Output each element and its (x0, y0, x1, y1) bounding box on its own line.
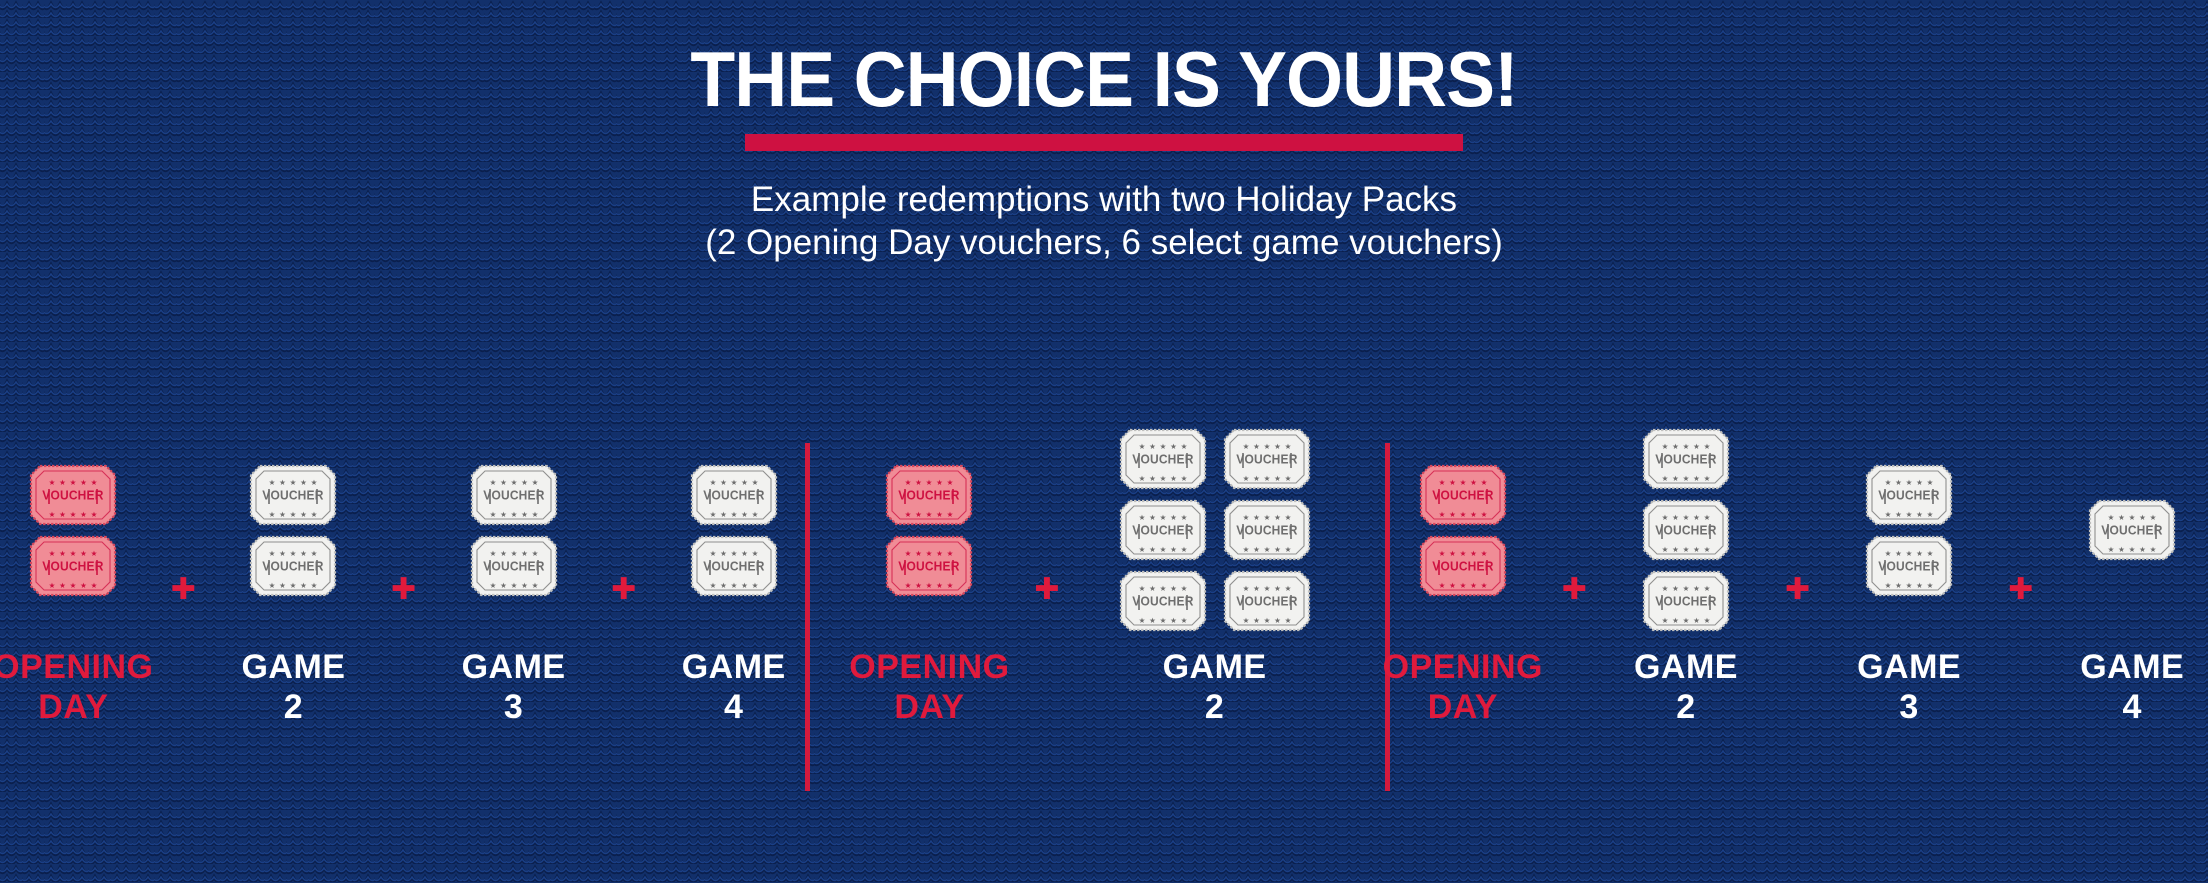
svg-text:★: ★ (1895, 549, 1902, 558)
svg-text:★: ★ (70, 581, 77, 590)
plus-separator-icon: ✚ (601, 575, 646, 605)
svg-text:★: ★ (1459, 581, 1466, 590)
svg-text:★: ★ (59, 478, 66, 487)
voucher-ticket-white: ★★★★★ ★★★★★ VOUCHER (470, 464, 558, 526)
svg-text:★: ★ (1449, 549, 1456, 558)
svg-text:★: ★ (1704, 545, 1711, 554)
svg-text:★: ★ (531, 581, 538, 590)
svg-text:VOUCHER: VOUCHER (1655, 452, 1716, 466)
svg-text:★: ★ (1459, 510, 1466, 519)
svg-text:★: ★ (1927, 581, 1934, 590)
svg-text:★: ★ (1895, 478, 1902, 487)
svg-text:VOUCHER: VOUCHER (1132, 594, 1193, 608)
ticket-row: ★★★★★ ★★★★★ VOUCHER (1865, 535, 1953, 597)
svg-text:★: ★ (1449, 478, 1456, 487)
svg-text:★: ★ (49, 510, 56, 519)
svg-text:★: ★ (489, 510, 496, 519)
svg-text:★: ★ (1693, 474, 1700, 483)
svg-text:★: ★ (1906, 581, 1913, 590)
svg-text:★: ★ (1138, 545, 1145, 554)
ticket-row: ★★★★★ ★★★★★ VOUCHER (885, 535, 973, 597)
svg-text:★: ★ (1704, 442, 1711, 451)
ticket-row: ★★★★★ ★★★★★ VOUCHER ★★★★★ ★★★★★ VOUCHER (1119, 499, 1311, 561)
svg-text:★: ★ (1683, 584, 1690, 593)
ticket-row: ★★★★★ ★★★★★ VOUCHER ★★★★★ ★★★★★ VOUCHER (1119, 570, 1311, 632)
svg-text:★: ★ (1253, 474, 1260, 483)
voucher-ticket-white: ★★★★★ ★★★★★ VOUCHER (249, 464, 337, 526)
svg-text:★: ★ (1159, 584, 1166, 593)
svg-text:★: ★ (500, 478, 507, 487)
svg-text:★: ★ (80, 549, 87, 558)
svg-text:★: ★ (1263, 474, 1270, 483)
voucher-ticket-white: ★★★★★ ★★★★★ VOUCHER (690, 535, 778, 597)
svg-text:VOUCHER: VOUCHER (263, 488, 324, 502)
svg-text:★: ★ (720, 581, 727, 590)
svg-text:★: ★ (1470, 478, 1477, 487)
label-line-2: DAY (849, 690, 1009, 724)
voucher-groups: ★★★★★ ★★★★★ VOUCHER ★★★★★ ★★★★★ VOUCHER … (1374, 420, 2208, 820)
svg-text:★: ★ (510, 510, 517, 519)
svg-text:VOUCHER: VOUCHER (1432, 559, 1493, 573)
voucher-group-label: GAME4 (2080, 650, 2184, 724)
svg-text:★: ★ (2139, 545, 2146, 554)
svg-text:★: ★ (1662, 513, 1669, 522)
svg-text:★: ★ (2150, 513, 2157, 522)
svg-text:★: ★ (1149, 545, 1156, 554)
label-line-1: OPENING (849, 648, 1009, 686)
voucher-group-game-4: ★★★★★ ★★★★★ VOUCHER ★★★★★ ★★★★★ VOUCHER … (646, 420, 821, 820)
svg-text:VOUCHER: VOUCHER (483, 488, 544, 502)
plus-separator-icon: ✚ (161, 575, 206, 605)
svg-text:★: ★ (1438, 478, 1445, 487)
svg-text:★: ★ (1693, 616, 1700, 625)
svg-text:★: ★ (1242, 584, 1249, 593)
svg-text:VOUCHER: VOUCHER (1878, 559, 1939, 573)
svg-text:VOUCHER: VOUCHER (1878, 488, 1939, 502)
ticket-row: ★★★★★ ★★★★★ VOUCHER (470, 535, 558, 597)
ticket-row: ★★★★★ ★★★★★ VOUCHER (470, 464, 558, 526)
voucher-ticket-white: ★★★★★ ★★★★★ VOUCHER (1642, 428, 1730, 490)
svg-text:★: ★ (301, 478, 308, 487)
svg-text:★: ★ (1274, 442, 1281, 451)
svg-text:★: ★ (1274, 616, 1281, 625)
plus-separator-icon: ✚ (1024, 575, 1069, 605)
voucher-group-label: GAME2 (1163, 650, 1267, 724)
svg-text:★: ★ (301, 549, 308, 558)
svg-text:★: ★ (1180, 513, 1187, 522)
svg-text:★: ★ (80, 581, 87, 590)
promo-graphic: THE CHOICE IS YOURS! Example redemptions… (0, 0, 2208, 883)
svg-text:★: ★ (1895, 581, 1902, 590)
svg-text:★: ★ (70, 478, 77, 487)
svg-text:★: ★ (720, 510, 727, 519)
svg-text:★: ★ (1672, 474, 1679, 483)
svg-text:★: ★ (741, 510, 748, 519)
svg-text:★: ★ (500, 510, 507, 519)
example-panel-1: ★★★★★ ★★★★★ VOUCHER ★★★★★ ★★★★★ VOUCHER … (0, 420, 807, 820)
label-line-1: GAME (1163, 648, 1267, 686)
svg-text:★: ★ (751, 510, 758, 519)
svg-text:★: ★ (1693, 545, 1700, 554)
plus-separator-icon: ✚ (1552, 575, 1597, 605)
svg-text:★: ★ (1470, 549, 1477, 558)
svg-text:★: ★ (709, 510, 716, 519)
ticket-row: ★★★★★ ★★★★★ VOUCHER (1865, 464, 1953, 526)
svg-text:★: ★ (1284, 442, 1291, 451)
svg-text:★: ★ (290, 478, 297, 487)
svg-text:★: ★ (1916, 549, 1923, 558)
svg-text:★: ★ (1683, 616, 1690, 625)
svg-text:★: ★ (280, 549, 287, 558)
svg-text:★: ★ (937, 549, 944, 558)
svg-text:★: ★ (1159, 545, 1166, 554)
voucher-group-game-4: ★★★★★ ★★★★★ VOUCHER GAME4 (2043, 420, 2208, 820)
ticket-stack: ★★★★★ ★★★★★ VOUCHER ★★★★★ ★★★★★ VOUCHER (690, 420, 778, 640)
svg-text:★: ★ (1180, 616, 1187, 625)
svg-text:★: ★ (311, 581, 318, 590)
svg-text:★: ★ (1704, 474, 1711, 483)
svg-text:★: ★ (59, 510, 66, 519)
svg-text:★: ★ (1927, 510, 1934, 519)
svg-text:★: ★ (1480, 510, 1487, 519)
svg-text:★: ★ (2108, 545, 2115, 554)
voucher-group-label: GAME4 (682, 650, 786, 724)
svg-text:★: ★ (290, 549, 297, 558)
svg-text:★: ★ (91, 549, 98, 558)
svg-text:VOUCHER: VOUCHER (899, 559, 960, 573)
svg-text:★: ★ (2129, 513, 2136, 522)
svg-text:★: ★ (1149, 616, 1156, 625)
svg-text:★: ★ (1284, 584, 1291, 593)
svg-text:★: ★ (1284, 474, 1291, 483)
voucher-group-label: GAME3 (1857, 650, 1961, 724)
voucher-ticket-red: ★★★★★ ★★★★★ VOUCHER (885, 535, 973, 597)
svg-text:VOUCHER: VOUCHER (899, 488, 960, 502)
svg-text:★: ★ (1438, 549, 1445, 558)
svg-text:★: ★ (730, 549, 737, 558)
title-underline-rule (745, 134, 1463, 151)
svg-text:★: ★ (70, 510, 77, 519)
example-panel-3: ★★★★★ ★★★★★ VOUCHER ★★★★★ ★★★★★ VOUCHER … (1387, 420, 2208, 820)
voucher-group-label: OPENINGDAY (1383, 650, 1543, 724)
ticket-row: ★★★★★ ★★★★★ VOUCHER (249, 535, 337, 597)
svg-text:★: ★ (926, 581, 933, 590)
svg-text:★: ★ (510, 581, 517, 590)
svg-text:★: ★ (1149, 513, 1156, 522)
subtitle-line-2: (2 Opening Day vouchers, 6 select game v… (0, 222, 2208, 265)
plus-separator-icon: ✚ (1775, 575, 1820, 605)
voucher-group-opening-day: ★★★★★ ★★★★★ VOUCHER ★★★★★ ★★★★★ VOUCHER … (1374, 420, 1552, 820)
svg-text:★: ★ (1672, 616, 1679, 625)
svg-text:★: ★ (1480, 478, 1487, 487)
svg-text:★: ★ (1662, 616, 1669, 625)
svg-text:★: ★ (1149, 584, 1156, 593)
voucher-ticket-red: ★★★★★ ★★★★★ VOUCHER (1419, 535, 1507, 597)
label-line-2: DAY (0, 690, 153, 724)
svg-text:★: ★ (1138, 442, 1145, 451)
svg-text:★: ★ (1242, 442, 1249, 451)
label-line-1: GAME (2080, 648, 2184, 686)
svg-text:★: ★ (937, 581, 944, 590)
svg-text:★: ★ (1159, 513, 1166, 522)
voucher-ticket-red: ★★★★★ ★★★★★ VOUCHER (1419, 464, 1507, 526)
svg-text:★: ★ (905, 510, 912, 519)
voucher-group-label: OPENINGDAY (0, 650, 153, 724)
svg-text:★: ★ (1159, 442, 1166, 451)
subtitle: Example redemptions with two Holiday Pac… (0, 179, 2208, 264)
label-line-2: 2 (1163, 690, 1267, 724)
svg-text:★: ★ (1693, 442, 1700, 451)
svg-text:★: ★ (751, 581, 758, 590)
svg-text:★: ★ (1159, 474, 1166, 483)
svg-text:★: ★ (741, 549, 748, 558)
svg-text:★: ★ (926, 549, 933, 558)
ticket-stack: ★★★★★ ★★★★★ VOUCHER ★★★★★ ★★★★★ VOUCHER (470, 420, 558, 640)
svg-text:★: ★ (280, 478, 287, 487)
svg-text:★: ★ (947, 510, 954, 519)
svg-text:★: ★ (751, 478, 758, 487)
svg-text:★: ★ (1438, 510, 1445, 519)
svg-text:★: ★ (70, 549, 77, 558)
svg-text:VOUCHER: VOUCHER (703, 488, 764, 502)
svg-text:VOUCHER: VOUCHER (263, 559, 324, 573)
label-line-1: GAME (462, 648, 566, 686)
svg-text:★: ★ (531, 549, 538, 558)
ticket-row: ★★★★★ ★★★★★ VOUCHER (885, 464, 973, 526)
svg-text:★: ★ (500, 549, 507, 558)
voucher-group-label: GAME2 (1634, 650, 1738, 724)
svg-text:★: ★ (1459, 549, 1466, 558)
svg-text:★: ★ (1470, 510, 1477, 519)
voucher-group-opening-day: ★★★★★ ★★★★★ VOUCHER ★★★★★ ★★★★★ VOUCHER … (0, 420, 161, 820)
svg-text:★: ★ (521, 510, 528, 519)
svg-text:VOUCHER: VOUCHER (1236, 594, 1297, 608)
svg-text:★: ★ (916, 549, 923, 558)
svg-text:★: ★ (1253, 545, 1260, 554)
voucher-ticket-white: ★★★★★ ★★★★★ VOUCHER (249, 535, 337, 597)
voucher-ticket-white: ★★★★★ ★★★★★ VOUCHER (2088, 499, 2176, 561)
svg-text:★: ★ (1683, 442, 1690, 451)
svg-text:★: ★ (1253, 616, 1260, 625)
svg-text:★: ★ (80, 510, 87, 519)
svg-text:★: ★ (1242, 513, 1249, 522)
svg-text:★: ★ (49, 581, 56, 590)
voucher-groups: ★★★★★ ★★★★★ VOUCHER ★★★★★ ★★★★★ VOUCHER … (834, 420, 1359, 820)
ticket-stack: ★★★★★ ★★★★★ VOUCHER ★★★★★ ★★★★★ VOUCHER (1865, 420, 1953, 640)
svg-text:★: ★ (49, 549, 56, 558)
ticket-row: ★★★★★ ★★★★★ VOUCHER (1642, 499, 1730, 561)
label-line-2: 3 (1857, 690, 1961, 724)
label-line-1: OPENING (0, 648, 153, 686)
voucher-ticket-white: ★★★★★ ★★★★★ VOUCHER (1119, 499, 1207, 561)
svg-text:★: ★ (489, 478, 496, 487)
svg-text:★: ★ (1180, 545, 1187, 554)
svg-text:★: ★ (1274, 474, 1281, 483)
svg-text:★: ★ (521, 581, 528, 590)
svg-text:★: ★ (59, 549, 66, 558)
svg-text:★: ★ (709, 549, 716, 558)
svg-text:★: ★ (905, 478, 912, 487)
svg-text:★: ★ (937, 510, 944, 519)
ticket-stack: ★★★★★ ★★★★★ VOUCHER ★★★★★ ★★★★★ VOUCHER (1419, 420, 1507, 640)
svg-text:★: ★ (489, 549, 496, 558)
voucher-group-game-3: ★★★★★ ★★★★★ VOUCHER ★★★★★ ★★★★★ VOUCHER … (426, 420, 601, 820)
svg-text:VOUCHER: VOUCHER (43, 488, 104, 502)
svg-text:★: ★ (741, 581, 748, 590)
svg-text:★: ★ (1906, 478, 1913, 487)
ticket-row: ★★★★★ ★★★★★ VOUCHER (1419, 535, 1507, 597)
svg-text:★: ★ (521, 549, 528, 558)
ticket-row: ★★★★★ ★★★★★ VOUCHER (690, 464, 778, 526)
svg-text:★: ★ (1170, 442, 1177, 451)
page-title: THE CHOICE IS YOURS! (66, 40, 2142, 118)
svg-text:★: ★ (1274, 513, 1281, 522)
svg-text:★: ★ (709, 478, 716, 487)
svg-text:★: ★ (1704, 616, 1711, 625)
svg-text:★: ★ (1916, 581, 1923, 590)
svg-text:VOUCHER: VOUCHER (1655, 594, 1716, 608)
svg-text:★: ★ (269, 478, 276, 487)
svg-text:★: ★ (1672, 442, 1679, 451)
svg-text:★: ★ (80, 478, 87, 487)
svg-text:★: ★ (1170, 474, 1177, 483)
svg-text:★: ★ (301, 510, 308, 519)
svg-text:★: ★ (1242, 616, 1249, 625)
svg-text:★: ★ (1449, 510, 1456, 519)
svg-text:VOUCHER: VOUCHER (1132, 523, 1193, 537)
svg-text:★: ★ (1459, 478, 1466, 487)
voucher-ticket-white: ★★★★★ ★★★★★ VOUCHER (470, 535, 558, 597)
svg-text:★: ★ (91, 478, 98, 487)
svg-text:★: ★ (1885, 478, 1892, 487)
svg-text:★: ★ (1672, 513, 1679, 522)
plus-separator-icon: ✚ (381, 575, 426, 605)
svg-text:★: ★ (521, 478, 528, 487)
svg-text:★: ★ (280, 510, 287, 519)
svg-text:★: ★ (1906, 549, 1913, 558)
svg-text:★: ★ (1180, 474, 1187, 483)
svg-text:★: ★ (1480, 549, 1487, 558)
svg-text:★: ★ (1253, 584, 1260, 593)
ticket-row: ★★★★★ ★★★★★ VOUCHER (2088, 499, 2176, 561)
svg-text:★: ★ (91, 581, 98, 590)
svg-text:★: ★ (489, 581, 496, 590)
svg-text:★: ★ (1138, 474, 1145, 483)
label-line-2: 2 (241, 690, 345, 724)
svg-text:★: ★ (1683, 545, 1690, 554)
svg-text:★: ★ (2129, 545, 2136, 554)
label-line-2: 4 (682, 690, 786, 724)
svg-text:★: ★ (1683, 513, 1690, 522)
svg-text:★: ★ (1927, 478, 1934, 487)
svg-text:★: ★ (1180, 584, 1187, 593)
svg-text:★: ★ (1253, 442, 1260, 451)
plus-separator-icon: ✚ (1998, 575, 2043, 605)
svg-text:★: ★ (1170, 616, 1177, 625)
label-line-1: GAME (1634, 648, 1738, 686)
voucher-ticket-white: ★★★★★ ★★★★★ VOUCHER (1642, 499, 1730, 561)
svg-text:★: ★ (510, 549, 517, 558)
voucher-group-game-2: ★★★★★ ★★★★★ VOUCHER ★★★★★ ★★★★★ VOUCHER … (206, 420, 381, 820)
voucher-ticket-white: ★★★★★ ★★★★★ VOUCHER (1223, 499, 1311, 561)
voucher-group-opening-day: ★★★★★ ★★★★★ VOUCHER ★★★★★ ★★★★★ VOUCHER … (834, 420, 1024, 820)
svg-text:VOUCHER: VOUCHER (1236, 523, 1297, 537)
label-line-1: GAME (682, 648, 786, 686)
svg-text:★: ★ (720, 478, 727, 487)
svg-text:★: ★ (1138, 616, 1145, 625)
svg-text:★: ★ (290, 581, 297, 590)
voucher-ticket-white: ★★★★★ ★★★★★ VOUCHER (1865, 464, 1953, 526)
svg-text:★: ★ (1284, 545, 1291, 554)
svg-text:★: ★ (1170, 545, 1177, 554)
svg-text:★: ★ (1284, 616, 1291, 625)
svg-text:★: ★ (926, 478, 933, 487)
ticket-row: ★★★★★ ★★★★★ VOUCHER (690, 535, 778, 597)
svg-text:★: ★ (1274, 584, 1281, 593)
svg-text:★: ★ (1480, 581, 1487, 590)
voucher-ticket-white: ★★★★★ ★★★★★ VOUCHER (1642, 570, 1730, 632)
ticket-row: ★★★★★ ★★★★★ VOUCHER ★★★★★ ★★★★★ VOUCHER (1119, 428, 1311, 490)
svg-text:★: ★ (709, 581, 716, 590)
svg-text:★: ★ (916, 581, 923, 590)
svg-text:★: ★ (1263, 545, 1270, 554)
svg-text:★: ★ (1662, 474, 1669, 483)
svg-text:★: ★ (1242, 545, 1249, 554)
svg-text:★: ★ (1916, 510, 1923, 519)
voucher-ticket-red: ★★★★★ ★★★★★ VOUCHER (29, 535, 117, 597)
svg-text:★: ★ (311, 510, 318, 519)
label-line-2: DAY (1383, 690, 1543, 724)
ticket-stack: ★★★★★ ★★★★★ VOUCHER ★★★★★ ★★★★★ VOUCHER … (1642, 420, 1730, 640)
voucher-group-label: OPENINGDAY (849, 650, 1009, 724)
svg-text:★: ★ (730, 581, 737, 590)
svg-text:★: ★ (1253, 513, 1260, 522)
ticket-stack: ★★★★★ ★★★★★ VOUCHER ★★★★★ ★★★★★ VOUCHER (885, 420, 973, 640)
subtitle-line-1: Example redemptions with two Holiday Pac… (0, 179, 2208, 222)
svg-text:★: ★ (1170, 513, 1177, 522)
voucher-ticket-red: ★★★★★ ★★★★★ VOUCHER (885, 464, 973, 526)
svg-text:★: ★ (1693, 584, 1700, 593)
svg-text:★: ★ (1149, 442, 1156, 451)
voucher-ticket-white: ★★★★★ ★★★★★ VOUCHER (1223, 428, 1311, 490)
svg-text:★: ★ (926, 510, 933, 519)
voucher-group-game-3: ★★★★★ ★★★★★ VOUCHER ★★★★★ ★★★★★ VOUCHER … (1820, 420, 1998, 820)
voucher-ticket-white: ★★★★★ ★★★★★ VOUCHER (690, 464, 778, 526)
svg-text:VOUCHER: VOUCHER (43, 559, 104, 573)
voucher-group-game-2: ★★★★★ ★★★★★ VOUCHER ★★★★★ ★★★★★ VOUCHER … (1070, 420, 1360, 820)
ticket-stack: ★★★★★ ★★★★★ VOUCHER (2088, 420, 2176, 640)
svg-text:★: ★ (531, 478, 538, 487)
ticket-stack: ★★★★★ ★★★★★ VOUCHER ★★★★★ ★★★★★ VOUCHER (249, 420, 337, 640)
svg-text:★: ★ (1927, 549, 1934, 558)
svg-text:★: ★ (2118, 545, 2125, 554)
svg-text:VOUCHER: VOUCHER (2101, 523, 2162, 537)
label-line-1: OPENING (1383, 648, 1543, 686)
svg-text:★: ★ (1263, 513, 1270, 522)
voucher-group-label: GAME2 (241, 650, 345, 724)
svg-text:★: ★ (510, 478, 517, 487)
label-line-2: 3 (462, 690, 566, 724)
voucher-group-game-2: ★★★★★ ★★★★★ VOUCHER ★★★★★ ★★★★★ VOUCHER … (1597, 420, 1775, 820)
svg-text:★: ★ (2108, 513, 2115, 522)
svg-text:★: ★ (1693, 513, 1700, 522)
svg-text:★: ★ (937, 478, 944, 487)
svg-text:★: ★ (2150, 545, 2157, 554)
svg-text:VOUCHER: VOUCHER (1132, 452, 1193, 466)
svg-text:★: ★ (1138, 584, 1145, 593)
svg-text:★: ★ (720, 549, 727, 558)
svg-text:★: ★ (91, 510, 98, 519)
